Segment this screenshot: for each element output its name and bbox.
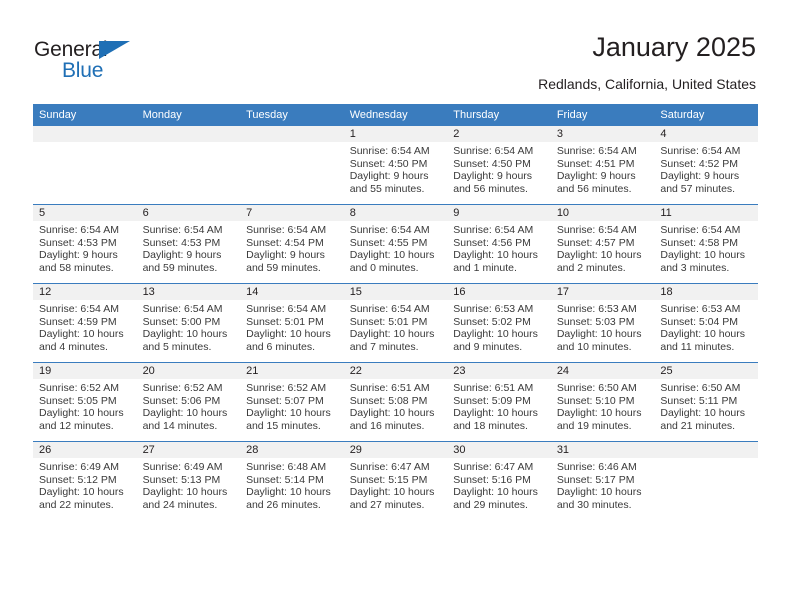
daylight-text-line1: Daylight: 10 hours [39,486,131,499]
sunset-text: Sunset: 5:10 PM [557,395,649,408]
daylight-text-line1: Daylight: 10 hours [453,407,545,420]
sunset-text: Sunset: 4:58 PM [660,237,752,250]
day-details: Sunrise: 6:54 AMSunset: 4:54 PMDaylight:… [240,221,344,274]
day-details: Sunrise: 6:54 AMSunset: 4:55 PMDaylight:… [344,221,448,274]
sunset-text: Sunset: 4:56 PM [453,237,545,250]
calendar-day-cell[interactable]: 19Sunrise: 6:52 AMSunset: 5:05 PMDayligh… [33,363,137,442]
sunrise-text: Sunrise: 6:53 AM [453,303,545,316]
calendar-week-row: 5Sunrise: 6:54 AMSunset: 4:53 PMDaylight… [33,205,758,284]
daylight-text-line2: and 3 minutes. [660,262,752,275]
daylight-text-line2: and 12 minutes. [39,420,131,433]
sunset-text: Sunset: 4:50 PM [453,158,545,171]
sunrise-text: Sunrise: 6:49 AM [39,461,131,474]
daylight-text-line2: and 21 minutes. [660,420,752,433]
calendar-day-cell[interactable]: 17Sunrise: 6:53 AMSunset: 5:03 PMDayligh… [551,284,655,363]
day-number: 26 [33,442,137,458]
calendar-day-cell[interactable]: 1Sunrise: 6:54 AMSunset: 4:50 PMDaylight… [344,126,448,205]
daylight-text-line2: and 26 minutes. [246,499,338,512]
day-cell-inner: 11Sunrise: 6:54 AMSunset: 4:58 PMDayligh… [654,205,758,283]
daylight-text-line1: Daylight: 10 hours [246,407,338,420]
daylight-text-line2: and 5 minutes. [143,341,235,354]
daylight-text-line1: Daylight: 10 hours [350,328,442,341]
sunset-text: Sunset: 5:04 PM [660,316,752,329]
daylight-text-line1: Daylight: 10 hours [557,407,649,420]
calendar-week-row: 1Sunrise: 6:54 AMSunset: 4:50 PMDaylight… [33,126,758,205]
day-cell-inner: 14Sunrise: 6:54 AMSunset: 5:01 PMDayligh… [240,284,344,362]
column-header-thursday: Thursday [447,104,551,126]
sunrise-text: Sunrise: 6:54 AM [39,224,131,237]
sunrise-text: Sunrise: 6:54 AM [246,224,338,237]
sunrise-text: Sunrise: 6:47 AM [350,461,442,474]
daylight-text-line2: and 59 minutes. [143,262,235,275]
page-title: January 2025 [592,32,756,63]
daylight-text-line1: Daylight: 9 hours [143,249,235,262]
day-details: Sunrise: 6:51 AMSunset: 5:08 PMDaylight:… [344,379,448,432]
day-details: Sunrise: 6:52 AMSunset: 5:07 PMDaylight:… [240,379,344,432]
daylight-text-line1: Daylight: 10 hours [557,486,649,499]
day-cell-inner: 31Sunrise: 6:46 AMSunset: 5:17 PMDayligh… [551,442,655,520]
sunset-text: Sunset: 4:59 PM [39,316,131,329]
calendar-day-cell[interactable]: 26Sunrise: 6:49 AMSunset: 5:12 PMDayligh… [33,442,137,521]
sunset-text: Sunset: 5:06 PM [143,395,235,408]
calendar-day-cell[interactable]: 21Sunrise: 6:52 AMSunset: 5:07 PMDayligh… [240,363,344,442]
day-cell-inner [137,126,241,204]
day-details: Sunrise: 6:52 AMSunset: 5:05 PMDaylight:… [33,379,137,432]
page-subtitle: Redlands, California, United States [538,76,756,92]
calendar-day-cell[interactable]: 8Sunrise: 6:54 AMSunset: 4:55 PMDaylight… [344,205,448,284]
day-number: 17 [551,284,655,300]
sunset-text: Sunset: 5:12 PM [39,474,131,487]
daylight-text-line1: Daylight: 9 hours [350,170,442,183]
day-cell-inner: 25Sunrise: 6:50 AMSunset: 5:11 PMDayligh… [654,363,758,441]
sunrise-text: Sunrise: 6:46 AM [557,461,649,474]
daylight-text-line1: Daylight: 10 hours [246,328,338,341]
calendar-day-cell-empty [33,126,137,205]
column-header-wednesday: Wednesday [344,104,448,126]
day-number: 22 [344,363,448,379]
day-details: Sunrise: 6:47 AMSunset: 5:16 PMDaylight:… [447,458,551,511]
calendar-day-cell[interactable]: 4Sunrise: 6:54 AMSunset: 4:52 PMDaylight… [654,126,758,205]
daylight-text-line1: Daylight: 10 hours [557,249,649,262]
calendar-day-cell[interactable]: 30Sunrise: 6:47 AMSunset: 5:16 PMDayligh… [447,442,551,521]
column-header-tuesday: Tuesday [240,104,344,126]
calendar-header-row: Sunday Monday Tuesday Wednesday Thursday… [33,104,758,126]
daylight-text-line2: and 57 minutes. [660,183,752,196]
daylight-text-line1: Daylight: 10 hours [350,486,442,499]
daylight-text-line1: Daylight: 10 hours [39,407,131,420]
daylight-text-line1: Daylight: 10 hours [350,249,442,262]
daylight-text-line1: Daylight: 10 hours [660,328,752,341]
daylight-text-line1: Daylight: 10 hours [143,328,235,341]
day-cell-inner: 18Sunrise: 6:53 AMSunset: 5:04 PMDayligh… [654,284,758,362]
daylight-text-line2: and 0 minutes. [350,262,442,275]
day-details: Sunrise: 6:54 AMSunset: 4:52 PMDaylight:… [654,142,758,195]
calendar-day-cell[interactable]: 18Sunrise: 6:53 AMSunset: 5:04 PMDayligh… [654,284,758,363]
column-header-sunday: Sunday [33,104,137,126]
day-cell-inner: 24Sunrise: 6:50 AMSunset: 5:10 PMDayligh… [551,363,655,441]
daylight-text-line1: Daylight: 10 hours [39,328,131,341]
day-details: Sunrise: 6:49 AMSunset: 5:13 PMDaylight:… [137,458,241,511]
sunrise-text: Sunrise: 6:54 AM [143,224,235,237]
day-number: 24 [551,363,655,379]
day-cell-inner: 7Sunrise: 6:54 AMSunset: 4:54 PMDaylight… [240,205,344,283]
triangle-icon [99,41,130,59]
calendar-day-cell-empty [654,442,758,521]
sunset-text: Sunset: 5:17 PM [557,474,649,487]
day-details: Sunrise: 6:51 AMSunset: 5:09 PMDaylight:… [447,379,551,432]
page-header: General Blue January 2025 Redlands, Cali… [0,0,792,104]
daylight-text-line2: and 59 minutes. [246,262,338,275]
daylight-text-line1: Daylight: 10 hours [453,328,545,341]
day-details: Sunrise: 6:54 AMSunset: 4:59 PMDaylight:… [33,300,137,353]
calendar-day-cell-empty [240,126,344,205]
calendar-day-cell[interactable]: 14Sunrise: 6:54 AMSunset: 5:01 PMDayligh… [240,284,344,363]
calendar-day-cell[interactable]: 16Sunrise: 6:53 AMSunset: 5:02 PMDayligh… [447,284,551,363]
daylight-text-line2: and 7 minutes. [350,341,442,354]
calendar-day-cell[interactable]: 22Sunrise: 6:51 AMSunset: 5:08 PMDayligh… [344,363,448,442]
daylight-text-line2: and 18 minutes. [453,420,545,433]
column-header-saturday: Saturday [654,104,758,126]
sunset-text: Sunset: 4:55 PM [350,237,442,250]
day-details: Sunrise: 6:48 AMSunset: 5:14 PMDaylight:… [240,458,344,511]
daylight-text-line2: and 58 minutes. [39,262,131,275]
day-cell-inner: 28Sunrise: 6:48 AMSunset: 5:14 PMDayligh… [240,442,344,520]
sunrise-text: Sunrise: 6:49 AM [143,461,235,474]
daylight-text-line2: and 14 minutes. [143,420,235,433]
sunrise-text: Sunrise: 6:51 AM [350,382,442,395]
daylight-text-line2: and 4 minutes. [39,341,131,354]
calendar-day-cell[interactable]: 31Sunrise: 6:46 AMSunset: 5:17 PMDayligh… [551,442,655,521]
day-cell-inner: 29Sunrise: 6:47 AMSunset: 5:15 PMDayligh… [344,442,448,520]
day-details: Sunrise: 6:49 AMSunset: 5:12 PMDaylight:… [33,458,137,511]
sunset-text: Sunset: 4:53 PM [143,237,235,250]
day-number: 23 [447,363,551,379]
sunrise-text: Sunrise: 6:50 AM [557,382,649,395]
day-details: Sunrise: 6:54 AMSunset: 5:01 PMDaylight:… [344,300,448,353]
calendar-week-row: 19Sunrise: 6:52 AMSunset: 5:05 PMDayligh… [33,363,758,442]
sunrise-text: Sunrise: 6:54 AM [350,303,442,316]
day-number: 31 [551,442,655,458]
sunset-text: Sunset: 4:51 PM [557,158,649,171]
sunrise-text: Sunrise: 6:52 AM [246,382,338,395]
sunrise-text: Sunrise: 6:47 AM [453,461,545,474]
day-details: Sunrise: 6:52 AMSunset: 5:06 PMDaylight:… [137,379,241,432]
day-number: 14 [240,284,344,300]
sunrise-text: Sunrise: 6:54 AM [660,145,752,158]
day-details: Sunrise: 6:53 AMSunset: 5:03 PMDaylight:… [551,300,655,353]
daylight-text-line1: Daylight: 10 hours [453,249,545,262]
daylight-text-line1: Daylight: 9 hours [660,170,752,183]
day-cell-inner: 27Sunrise: 6:49 AMSunset: 5:13 PMDayligh… [137,442,241,520]
daylight-text-line2: and 22 minutes. [39,499,131,512]
calendar-day-cell[interactable]: 15Sunrise: 6:54 AMSunset: 5:01 PMDayligh… [344,284,448,363]
calendar-day-cell[interactable]: 6Sunrise: 6:54 AMSunset: 4:53 PMDaylight… [137,205,241,284]
day-cell-inner: 10Sunrise: 6:54 AMSunset: 4:57 PMDayligh… [551,205,655,283]
calendar-day-cell[interactable]: 12Sunrise: 6:54 AMSunset: 4:59 PMDayligh… [33,284,137,363]
day-cell-inner: 4Sunrise: 6:54 AMSunset: 4:52 PMDaylight… [654,126,758,204]
day-details: Sunrise: 6:53 AMSunset: 5:02 PMDaylight:… [447,300,551,353]
daylight-text-line2: and 16 minutes. [350,420,442,433]
day-number: 2 [447,126,551,142]
sunrise-text: Sunrise: 6:54 AM [143,303,235,316]
daylight-text-line2: and 6 minutes. [246,341,338,354]
sunrise-text: Sunrise: 6:52 AM [39,382,131,395]
calendar-day-cell[interactable]: 10Sunrise: 6:54 AMSunset: 4:57 PMDayligh… [551,205,655,284]
sunset-text: Sunset: 5:03 PM [557,316,649,329]
day-cell-inner: 20Sunrise: 6:52 AMSunset: 5:06 PMDayligh… [137,363,241,441]
day-cell-inner: 26Sunrise: 6:49 AMSunset: 5:12 PMDayligh… [33,442,137,520]
day-details: Sunrise: 6:54 AMSunset: 4:56 PMDaylight:… [447,221,551,274]
calendar-page: General Blue January 2025 Redlands, Cali… [0,0,792,612]
daylight-text-line2: and 55 minutes. [350,183,442,196]
day-cell-inner: 2Sunrise: 6:54 AMSunset: 4:50 PMDaylight… [447,126,551,204]
calendar-day-cell[interactable]: 28Sunrise: 6:48 AMSunset: 5:14 PMDayligh… [240,442,344,521]
day-number: 6 [137,205,241,221]
day-cell-inner: 12Sunrise: 6:54 AMSunset: 4:59 PMDayligh… [33,284,137,362]
daylight-text-line2: and 15 minutes. [246,420,338,433]
day-number: 8 [344,205,448,221]
sunset-text: Sunset: 5:08 PM [350,395,442,408]
day-cell-inner: 30Sunrise: 6:47 AMSunset: 5:16 PMDayligh… [447,442,551,520]
day-cell-inner: 5Sunrise: 6:54 AMSunset: 4:53 PMDaylight… [33,205,137,283]
day-details: Sunrise: 6:50 AMSunset: 5:10 PMDaylight:… [551,379,655,432]
sunrise-text: Sunrise: 6:54 AM [660,224,752,237]
sunrise-text: Sunrise: 6:53 AM [557,303,649,316]
day-number [137,126,241,142]
daylight-text-line1: Daylight: 9 hours [39,249,131,262]
day-cell-inner [33,126,137,204]
day-number: 18 [654,284,758,300]
day-details: Sunrise: 6:53 AMSunset: 5:04 PMDaylight:… [654,300,758,353]
calendar-week-row: 26Sunrise: 6:49 AMSunset: 5:12 PMDayligh… [33,442,758,521]
day-number: 11 [654,205,758,221]
day-number: 13 [137,284,241,300]
day-cell-inner: 21Sunrise: 6:52 AMSunset: 5:07 PMDayligh… [240,363,344,441]
day-number: 4 [654,126,758,142]
day-details: Sunrise: 6:47 AMSunset: 5:15 PMDaylight:… [344,458,448,511]
sunrise-sunset-calendar: Sunday Monday Tuesday Wednesday Thursday… [33,104,758,520]
day-number: 28 [240,442,344,458]
day-cell-inner: 17Sunrise: 6:53 AMSunset: 5:03 PMDayligh… [551,284,655,362]
calendar-day-cell[interactable]: 11Sunrise: 6:54 AMSunset: 4:58 PMDayligh… [654,205,758,284]
day-details: Sunrise: 6:50 AMSunset: 5:11 PMDaylight:… [654,379,758,432]
day-cell-inner [240,126,344,204]
day-cell-inner: 1Sunrise: 6:54 AMSunset: 4:50 PMDaylight… [344,126,448,204]
daylight-text-line2: and 30 minutes. [557,499,649,512]
sunrise-text: Sunrise: 6:52 AM [143,382,235,395]
daylight-text-line1: Daylight: 9 hours [246,249,338,262]
day-details: Sunrise: 6:54 AMSunset: 4:53 PMDaylight:… [137,221,241,274]
day-number: 16 [447,284,551,300]
day-details: Sunrise: 6:54 AMSunset: 4:50 PMDaylight:… [344,142,448,195]
day-number: 15 [344,284,448,300]
calendar-day-cell[interactable]: 29Sunrise: 6:47 AMSunset: 5:15 PMDayligh… [344,442,448,521]
daylight-text-line2: and 11 minutes. [660,341,752,354]
sunset-text: Sunset: 5:13 PM [143,474,235,487]
general-blue-logo[interactable]: General Blue [34,38,164,84]
daylight-text-line1: Daylight: 10 hours [660,407,752,420]
calendar-body: 1Sunrise: 6:54 AMSunset: 4:50 PMDaylight… [33,126,758,520]
daylight-text-line1: Daylight: 10 hours [143,407,235,420]
day-number: 3 [551,126,655,142]
calendar-day-cell-empty [137,126,241,205]
sunset-text: Sunset: 5:02 PM [453,316,545,329]
day-cell-inner: 19Sunrise: 6:52 AMSunset: 5:05 PMDayligh… [33,363,137,441]
sunrise-text: Sunrise: 6:54 AM [453,224,545,237]
daylight-text-line2: and 9 minutes. [453,341,545,354]
calendar-day-cell[interactable]: 7Sunrise: 6:54 AMSunset: 4:54 PMDaylight… [240,205,344,284]
day-number [33,126,137,142]
sunset-text: Sunset: 5:16 PM [453,474,545,487]
day-number: 7 [240,205,344,221]
daylight-text-line2: and 10 minutes. [557,341,649,354]
calendar-day-cell[interactable]: 9Sunrise: 6:54 AMSunset: 4:56 PMDaylight… [447,205,551,284]
day-cell-inner: 6Sunrise: 6:54 AMSunset: 4:53 PMDaylight… [137,205,241,283]
day-number: 1 [344,126,448,142]
sunset-text: Sunset: 4:54 PM [246,237,338,250]
day-details: Sunrise: 6:54 AMSunset: 4:51 PMDaylight:… [551,142,655,195]
calendar-day-cell[interactable]: 25Sunrise: 6:50 AMSunset: 5:11 PMDayligh… [654,363,758,442]
sunrise-text: Sunrise: 6:48 AM [246,461,338,474]
sunrise-text: Sunrise: 6:53 AM [660,303,752,316]
daylight-text-line2: and 56 minutes. [453,183,545,196]
daylight-text-line2: and 29 minutes. [453,499,545,512]
daylight-text-line2: and 2 minutes. [557,262,649,275]
day-number: 10 [551,205,655,221]
daylight-text-line2: and 56 minutes. [557,183,649,196]
sunset-text: Sunset: 5:09 PM [453,395,545,408]
logo-text-blue: Blue [62,59,103,83]
sunset-text: Sunset: 5:05 PM [39,395,131,408]
sunrise-text: Sunrise: 6:54 AM [246,303,338,316]
daylight-text-line2: and 1 minute. [453,262,545,275]
day-number: 19 [33,363,137,379]
day-details: Sunrise: 6:54 AMSunset: 4:50 PMDaylight:… [447,142,551,195]
sunrise-text: Sunrise: 6:50 AM [660,382,752,395]
day-number: 12 [33,284,137,300]
day-number: 30 [447,442,551,458]
daylight-text-line1: Daylight: 10 hours [350,407,442,420]
day-cell-inner: 15Sunrise: 6:54 AMSunset: 5:01 PMDayligh… [344,284,448,362]
sunrise-text: Sunrise: 6:54 AM [453,145,545,158]
day-number: 9 [447,205,551,221]
day-number [654,442,758,458]
day-cell-inner: 8Sunrise: 6:54 AMSunset: 4:55 PMDaylight… [344,205,448,283]
daylight-text-line1: Daylight: 10 hours [557,328,649,341]
calendar-day-cell[interactable]: 20Sunrise: 6:52 AMSunset: 5:06 PMDayligh… [137,363,241,442]
day-details: Sunrise: 6:54 AMSunset: 4:58 PMDaylight:… [654,221,758,274]
day-cell-inner: 22Sunrise: 6:51 AMSunset: 5:08 PMDayligh… [344,363,448,441]
sunset-text: Sunset: 5:07 PM [246,395,338,408]
sunrise-text: Sunrise: 6:54 AM [350,224,442,237]
sunset-text: Sunset: 5:15 PM [350,474,442,487]
day-number [240,126,344,142]
calendar-day-cell[interactable]: 13Sunrise: 6:54 AMSunset: 5:00 PMDayligh… [137,284,241,363]
sunset-text: Sunset: 4:57 PM [557,237,649,250]
daylight-text-line1: Daylight: 10 hours [246,486,338,499]
daylight-text-line2: and 27 minutes. [350,499,442,512]
daylight-text-line1: Daylight: 9 hours [453,170,545,183]
day-cell-inner: 9Sunrise: 6:54 AMSunset: 4:56 PMDaylight… [447,205,551,283]
sunset-text: Sunset: 5:00 PM [143,316,235,329]
calendar-day-cell[interactable]: 27Sunrise: 6:49 AMSunset: 5:13 PMDayligh… [137,442,241,521]
day-cell-inner: 13Sunrise: 6:54 AMSunset: 5:00 PMDayligh… [137,284,241,362]
sunset-text: Sunset: 4:53 PM [39,237,131,250]
daylight-text-line1: Daylight: 10 hours [660,249,752,262]
calendar-day-cell[interactable]: 3Sunrise: 6:54 AMSunset: 4:51 PMDaylight… [551,126,655,205]
calendar-day-cell[interactable]: 24Sunrise: 6:50 AMSunset: 5:10 PMDayligh… [551,363,655,442]
day-number: 25 [654,363,758,379]
column-header-monday: Monday [137,104,241,126]
daylight-text-line2: and 24 minutes. [143,499,235,512]
day-cell-inner [654,442,758,520]
daylight-text-line2: and 19 minutes. [557,420,649,433]
daylight-text-line1: Daylight: 10 hours [143,486,235,499]
daylight-text-line1: Daylight: 10 hours [453,486,545,499]
sunset-text: Sunset: 5:11 PM [660,395,752,408]
sunrise-text: Sunrise: 6:54 AM [557,224,649,237]
day-details: Sunrise: 6:54 AMSunset: 4:53 PMDaylight:… [33,221,137,274]
day-number: 29 [344,442,448,458]
daylight-text-line1: Daylight: 9 hours [557,170,649,183]
day-number: 20 [137,363,241,379]
calendar-day-cell[interactable]: 23Sunrise: 6:51 AMSunset: 5:09 PMDayligh… [447,363,551,442]
calendar-week-row: 12Sunrise: 6:54 AMSunset: 4:59 PMDayligh… [33,284,758,363]
calendar-day-cell[interactable]: 2Sunrise: 6:54 AMSunset: 4:50 PMDaylight… [447,126,551,205]
sunset-text: Sunset: 5:01 PM [350,316,442,329]
column-header-friday: Friday [551,104,655,126]
day-details: Sunrise: 6:54 AMSunset: 4:57 PMDaylight:… [551,221,655,274]
day-number: 27 [137,442,241,458]
sunset-text: Sunset: 5:01 PM [246,316,338,329]
sunrise-text: Sunrise: 6:54 AM [39,303,131,316]
day-cell-inner: 3Sunrise: 6:54 AMSunset: 4:51 PMDaylight… [551,126,655,204]
day-details: Sunrise: 6:46 AMSunset: 5:17 PMDaylight:… [551,458,655,511]
day-number: 21 [240,363,344,379]
calendar-day-cell[interactable]: 5Sunrise: 6:54 AMSunset: 4:53 PMDaylight… [33,205,137,284]
day-details: Sunrise: 6:54 AMSunset: 5:01 PMDaylight:… [240,300,344,353]
sunset-text: Sunset: 5:14 PM [246,474,338,487]
day-cell-inner: 23Sunrise: 6:51 AMSunset: 5:09 PMDayligh… [447,363,551,441]
day-number: 5 [33,205,137,221]
day-details: Sunrise: 6:54 AMSunset: 5:00 PMDaylight:… [137,300,241,353]
sunrise-text: Sunrise: 6:54 AM [350,145,442,158]
sunrise-text: Sunrise: 6:54 AM [557,145,649,158]
sunset-text: Sunset: 4:50 PM [350,158,442,171]
sunset-text: Sunset: 4:52 PM [660,158,752,171]
sunrise-text: Sunrise: 6:51 AM [453,382,545,395]
day-cell-inner: 16Sunrise: 6:53 AMSunset: 5:02 PMDayligh… [447,284,551,362]
